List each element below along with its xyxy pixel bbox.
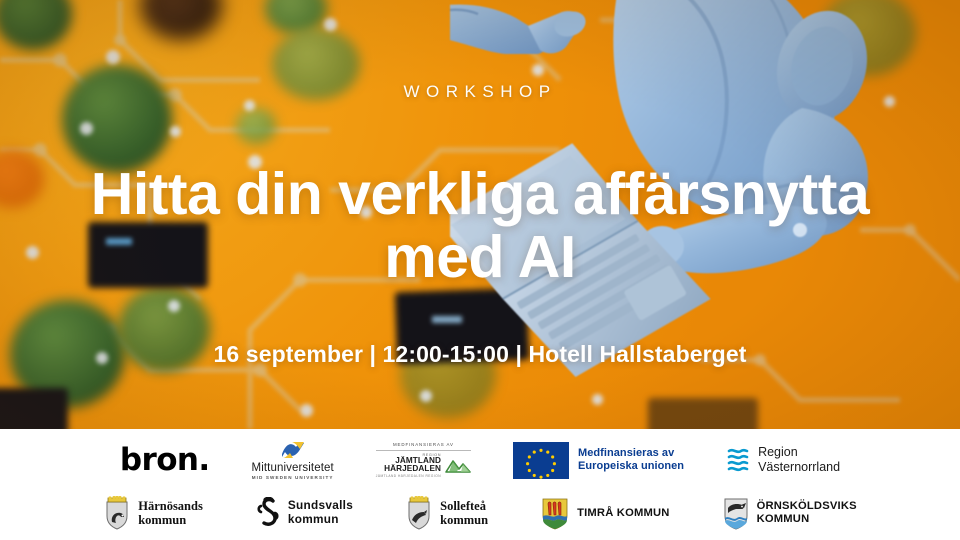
jh-body: REGION JÄMTLAND HÄRJEDALEN JÄMTLAND HÄRJ…: [376, 450, 471, 478]
sundsvall-text: Sundsvalls kommun: [288, 499, 353, 526]
logo-european-union: Medfinansieras av Europeiska unionen: [513, 442, 684, 479]
jh-block: MEDFINANSIERAS AV REGION JÄMTLAND HÄRJED…: [376, 442, 471, 478]
eu-line-2: Europeiska unionen: [578, 460, 684, 473]
solleftea-text: Sollefteå kommun: [440, 499, 488, 528]
rvn-line-1: Region: [758, 445, 840, 460]
hero-text-block: WORKSHOP Hitta din verkliga affärsnytta …: [0, 0, 960, 429]
headline-line-1: Hitta din verkliga affärsnytta: [91, 161, 869, 227]
harnosand-coat-of-arms-icon: [103, 496, 131, 530]
sundsvall-monogram-icon: [255, 497, 281, 529]
logo-region-vasternorrland: Region Västernorrland: [726, 445, 840, 475]
bron-wordmark: bron.: [120, 442, 210, 478]
logo-timra-kommun: TIMRÅ KOMMUN: [540, 496, 670, 530]
logo-mittuniversitetet: Mittuniversitetet MID SWEDEN UNIVERSITY: [252, 440, 334, 480]
logo-sundsvalls-kommun: Sundsvalls kommun: [255, 497, 353, 529]
ornskoldsvik-text: ÖRNSKÖLDSVIKS KOMMUN: [757, 500, 857, 526]
mountain-icon: [445, 457, 471, 475]
ornskoldsvik-line-2: KOMMUN: [757, 513, 857, 526]
harnosand-line-2: kommun: [138, 513, 203, 528]
logo-row-municipalities: Härnösands kommun Sundsvalls kommun: [0, 488, 960, 538]
miun-subtitle: MID SWEDEN UNIVERSITY: [252, 475, 334, 480]
harnosand-line-1: Härnösands: [138, 499, 203, 514]
event-details: 16 september | 12:00-15:00 | Hotell Hall…: [0, 341, 960, 368]
partner-logo-bar: bron. Mittuniversitetet MID SWEDEN UNIVE…: [0, 429, 960, 540]
jh-cofinance-label: MEDFINANSIERAS AV: [376, 442, 471, 447]
rvn-line-2: Västernorrland: [758, 460, 840, 475]
jh-words: REGION JÄMTLAND HÄRJEDALEN JÄMTLAND HÄRJ…: [376, 453, 441, 478]
logo-region-jamtland-harjedalen: MEDFINANSIERAS AV REGION JÄMTLAND HÄRJED…: [376, 442, 471, 478]
rvn-text: Region Västernorrland: [758, 445, 840, 475]
solleftea-coat-of-arms-icon: [405, 496, 433, 530]
logo-row-primary: bron. Mittuniversitetet MID SWEDEN UNIVE…: [0, 429, 960, 488]
workshop-poster: WORKSHOP Hitta din verkliga affärsnytta …: [0, 0, 960, 540]
harnosand-text: Härnösands kommun: [138, 499, 203, 528]
solleftea-line-2: kommun: [440, 513, 488, 528]
timra-coat-of-arms-icon: [540, 496, 570, 530]
logo-solleftea-kommun: Sollefteå kommun: [405, 496, 488, 530]
mittuniversitetet-mark: [280, 440, 306, 460]
eyebrow-label: WORKSHOP: [0, 82, 960, 102]
miun-title: Mittuniversitetet: [252, 462, 334, 474]
ornskoldsvik-coat-of-arms-icon: [722, 496, 750, 530]
sundsvall-line-2: kommun: [288, 513, 353, 527]
page-title: Hitta din verkliga affärsnytta med AI: [50, 163, 910, 289]
mittuniversitetet-text: Mittuniversitetet MID SWEDEN UNIVERSITY: [252, 462, 334, 480]
jh-footnote: JÄMTLAND HÄRJEDALEN REGION: [376, 474, 441, 478]
jh-line-2: HÄRJEDALEN: [376, 465, 441, 473]
headline-line-2: med AI: [384, 224, 576, 290]
timra-line-1: TIMRÅ KOMMUN: [577, 507, 670, 520]
solleftea-line-1: Sollefteå: [440, 499, 488, 514]
logo-bron: bron.: [120, 442, 210, 478]
eu-flag-icon: [513, 442, 569, 479]
ornskoldsvik-line-1: ÖRNSKÖLDSVIKS: [757, 500, 857, 513]
eu-text: Medfinansieras av Europeiska unionen: [578, 447, 684, 474]
eu-line-1: Medfinansieras av: [578, 447, 684, 460]
sundsvall-line-1: Sundsvalls: [288, 499, 353, 513]
timra-text: TIMRÅ KOMMUN: [577, 507, 670, 520]
waves-icon: [726, 447, 750, 473]
logo-ornskoldsviks-kommun: ÖRNSKÖLDSVIKS KOMMUN: [722, 496, 857, 530]
logo-harnosands-kommun: Härnösands kommun: [103, 496, 203, 530]
hero-banner: WORKSHOP Hitta din verkliga affärsnytta …: [0, 0, 960, 429]
